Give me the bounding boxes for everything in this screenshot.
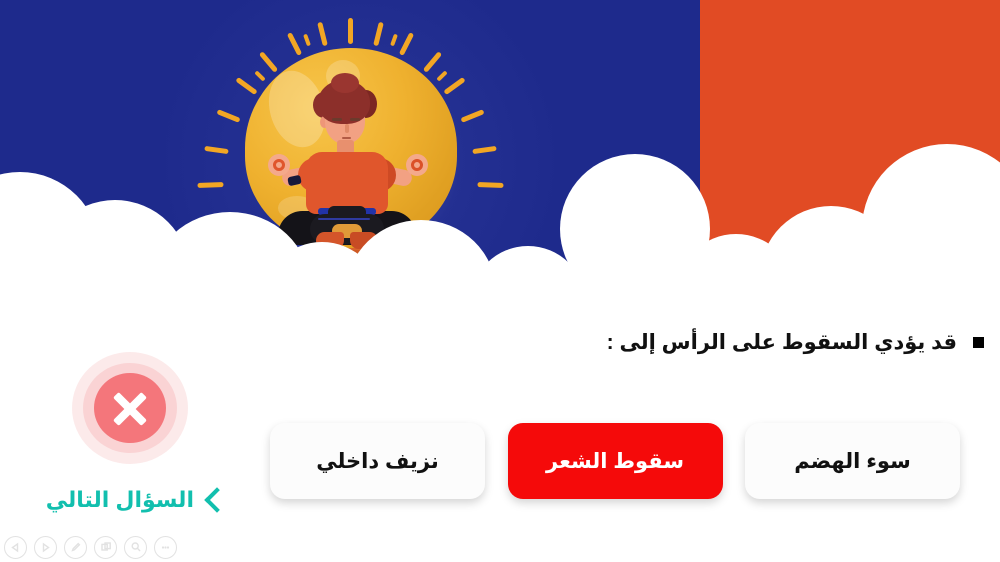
next-slide-button[interactable] [34, 536, 57, 559]
ray-icon [216, 109, 240, 123]
pen-button[interactable] [64, 536, 87, 559]
next-slide-icon [40, 542, 51, 553]
person-mouth [342, 137, 351, 139]
previous-slide-button[interactable] [4, 536, 27, 559]
answer-feedback-icon [72, 352, 188, 464]
slide-canvas: السؤال التالي قد يؤدي السقوط على الرأس إ… [0, 0, 1000, 562]
ray-icon [436, 70, 447, 81]
presentation-toolbar [4, 536, 177, 558]
previous-slide-icon [10, 542, 21, 553]
question-row: قد يؤدي السقوط على الرأس إلى : [607, 330, 984, 355]
ray-icon [235, 77, 257, 95]
person-eye [350, 118, 360, 121]
zoom-button[interactable] [124, 536, 147, 559]
ray-icon [399, 32, 414, 56]
more-options-icon [159, 541, 172, 554]
answer-option-3[interactable]: نزيف داخلي [270, 423, 485, 499]
ray-icon [287, 32, 302, 56]
person-nose [345, 124, 349, 133]
answer-options: سوء الهضم سقوط الشعر نزيف داخلي [270, 422, 960, 500]
person-eye [332, 118, 342, 121]
ray-icon [390, 34, 398, 47]
ray-icon [373, 22, 384, 46]
next-question-label: السؤال التالي [46, 487, 194, 513]
magnifier-icon [130, 541, 142, 553]
ray-icon [443, 77, 465, 95]
ray-icon [348, 18, 353, 44]
ray-icon [254, 70, 265, 81]
ray-icon [460, 109, 484, 123]
answer-option-1[interactable]: سوء الهضم [745, 423, 960, 499]
slides-grid-button[interactable] [94, 536, 117, 559]
square-bullet-icon [973, 337, 984, 348]
ray-icon [259, 51, 278, 73]
more-options-button[interactable] [154, 536, 177, 559]
ray-icon [317, 22, 328, 46]
question-text: قد يؤدي السقوط على الرأس إلى : [607, 330, 957, 355]
chevron-left-icon [204, 487, 229, 512]
ray-icon [423, 51, 442, 73]
cloud-decoration [0, 150, 1000, 330]
cross-icon [94, 373, 166, 443]
answer-option-2[interactable]: سقوط الشعر [508, 423, 723, 499]
next-question-link[interactable]: السؤال التالي [36, 484, 226, 516]
ray-icon [303, 34, 311, 47]
pen-icon [70, 541, 82, 553]
person-hair [331, 73, 359, 93]
slides-grid-icon [100, 541, 112, 553]
